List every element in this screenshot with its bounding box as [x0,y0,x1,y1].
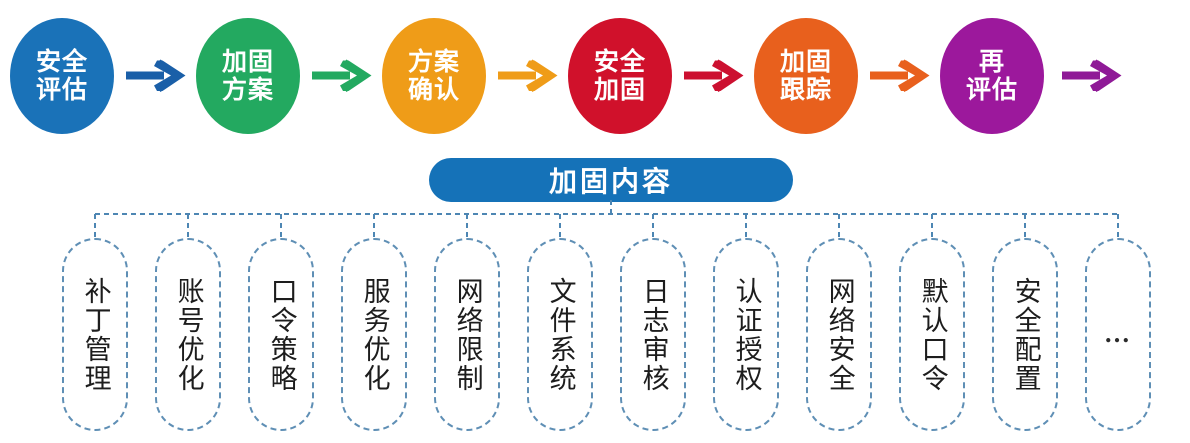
flow-arrow-icon-1 [126,59,188,93]
flow-node-5[interactable]: 加固跟踪 [754,18,858,134]
flow-node-3[interactable]: 方案确认 [382,18,486,134]
process-flow-row: 安全评估加固方案方案确认安全加固加固跟踪再评估 [0,18,1190,140]
cropped-heading-text [0,0,1190,4]
flow-node-label-line2: 跟踪 [780,76,832,104]
flow-node-label-line2: 加固 [594,76,646,104]
diagram-canvas: 安全评估加固方案方案确认安全加固加固跟踪再评估 加固内容 补丁管理账号优化口令策… [0,0,1190,443]
flow-arrow-icon-2 [312,59,374,93]
section-banner: 加固内容 [429,158,793,202]
capsule-item-label: 网络安全 [824,277,853,393]
capsule-item-7[interactable]: 日志审核 [620,238,686,431]
flow-node-label-line1: 加固 [222,48,274,76]
flow-node-4[interactable]: 安全加固 [568,18,672,134]
capsule-item-label: 默认口令 [917,277,946,393]
capsule-item-8[interactable]: 认证授权 [713,238,779,431]
flow-node-2[interactable]: 加固方案 [196,18,300,134]
flow-arrow-icon-4 [684,59,746,93]
flow-node-label-line2: 方案 [222,76,274,104]
capsule-item-label: 口令策略 [266,277,295,393]
flow-node-label-line1: 方案 [408,48,460,76]
flow-arrow-icon-5 [870,59,932,93]
capsule-item-label: 日志审核 [638,277,667,393]
flow-node-label-line1: 安全 [36,48,88,76]
flow-node-label-line1: 安全 [594,48,646,76]
capsule-item-label: 认证授权 [731,277,760,393]
flow-node-6[interactable]: 再评估 [940,18,1044,134]
capsule-item-11[interactable]: 安全配置 [992,238,1058,431]
flow-node-label-line1: 再 [979,48,1005,76]
section-banner-label: 加固内容 [549,160,673,200]
flow-arrow-icon-3 [498,59,560,93]
flow-node-label-line2: 评估 [966,76,1018,104]
flow-node-label-line2: 确认 [408,76,460,104]
capsule-item-label: 账号优化 [173,277,202,393]
flow-node-label-line1: 加固 [780,48,832,76]
capsule-item-10[interactable]: 默认口令 [899,238,965,431]
capsule-item-label: 网络限制 [452,277,481,393]
capsule-row: 补丁管理账号优化口令策略服务优化网络限制文件系统日志审核认证授权网络安全默认口令… [0,238,1190,443]
flow-node-label-line2: 评估 [36,76,88,104]
capsule-item-label: 文件系统 [545,277,574,393]
capsule-item-6[interactable]: 文件系统 [527,238,593,431]
capsule-item-label: 安全配置 [1010,277,1039,393]
capsule-item-12[interactable]: … [1085,238,1151,431]
capsule-item-9[interactable]: 网络安全 [806,238,872,431]
flow-arrow-icon-6 [1062,59,1124,93]
capsule-item-label: … [1104,320,1132,348]
capsule-item-3[interactable]: 口令策略 [248,238,314,431]
capsule-item-2[interactable]: 账号优化 [155,238,221,431]
capsule-item-5[interactable]: 网络限制 [434,238,500,431]
capsule-item-label: 服务优化 [359,277,388,393]
capsule-item-label: 补丁管理 [80,277,109,393]
capsule-item-1[interactable]: 补丁管理 [62,238,128,431]
capsule-item-4[interactable]: 服务优化 [341,238,407,431]
flow-node-1[interactable]: 安全评估 [10,18,114,134]
